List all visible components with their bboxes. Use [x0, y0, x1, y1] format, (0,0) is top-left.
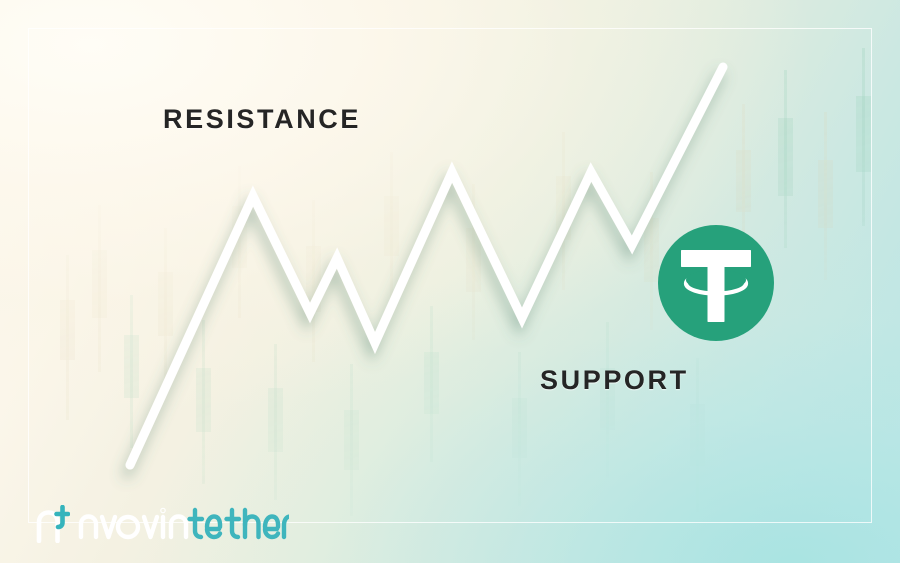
promo-banner: RESISTANCE SUPPORT [0, 0, 900, 563]
tether-coin-icon [655, 222, 777, 344]
level-lines [122, 150, 740, 348]
support-label: SUPPORT [540, 365, 689, 396]
resistance-label: RESISTANCE [163, 104, 361, 135]
brand-wordmark [77, 507, 289, 541]
novin-tether-monogram-icon [36, 505, 70, 543]
brand-logo[interactable] [36, 503, 289, 545]
